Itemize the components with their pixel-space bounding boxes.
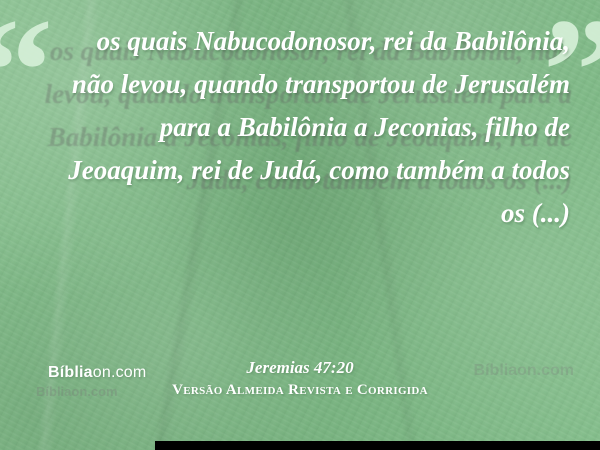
open-quote-icon: “ — [0, 0, 53, 146]
verse-card: os quais Nabucodonosor, rei da Babilônia… — [0, 0, 600, 450]
verse-reference: Jeremias 47:20 — [0, 358, 600, 378]
bottom-black-bar — [155, 441, 600, 450]
citation-block: Jeremias 47:20 Versão Almeida Revista e … — [0, 358, 600, 399]
bible-version-label: Versão Almeida Revista e Corrigida — [0, 382, 600, 399]
card-footer: Bíbliaon.com Bíbliaon.com Bíbliaon.com J… — [0, 340, 600, 450]
verse-text: os quais Nabucodonosor, rei da Babilônia… — [58, 20, 570, 235]
